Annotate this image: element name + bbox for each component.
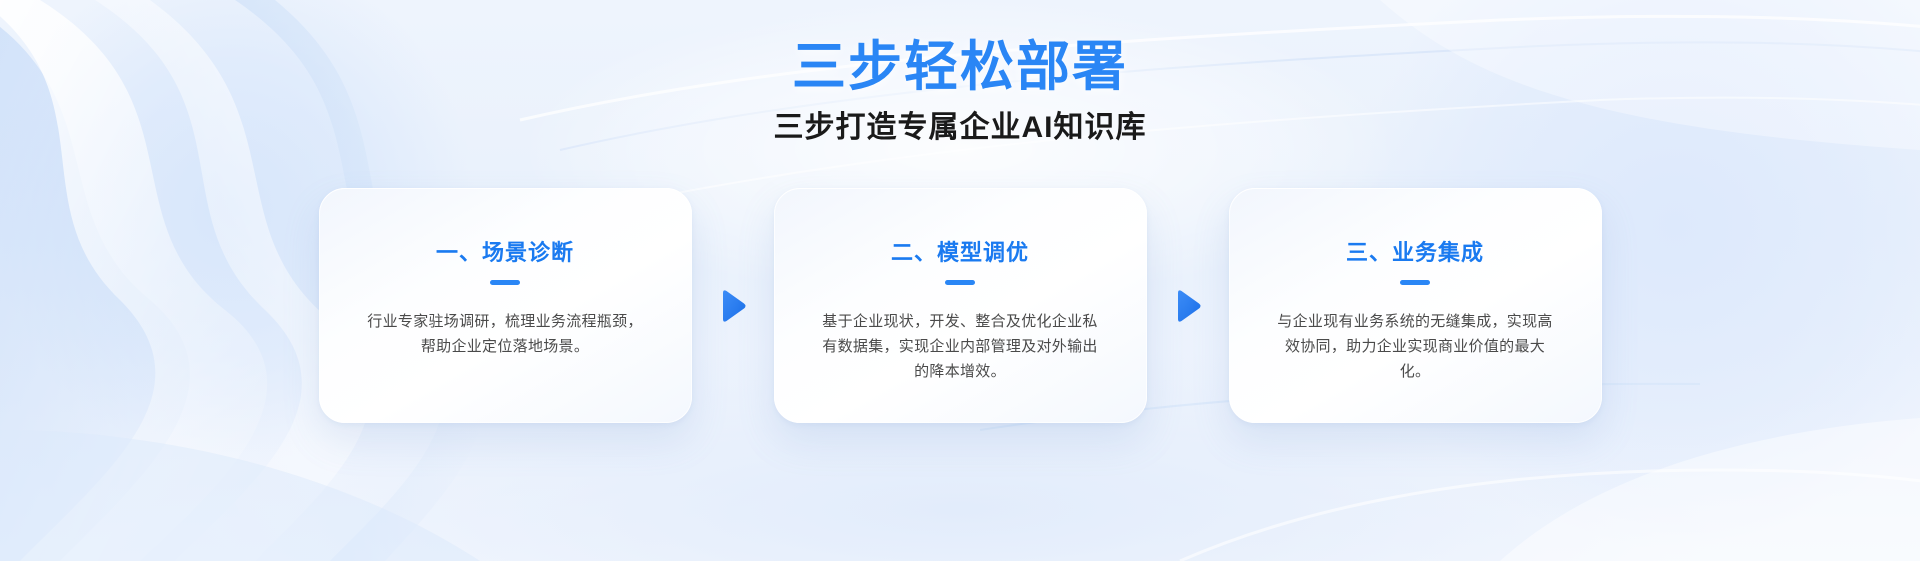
step-card-1-title: 一、场景诊断 bbox=[436, 240, 574, 266]
step-card-2-divider bbox=[945, 280, 975, 285]
step-card-2-title: 二、模型调优 bbox=[891, 240, 1029, 266]
step-card-3[interactable]: 三、业务集成 与企业现有业务系统的无缝集成，实现高效协同，助力企业实现商业价值的… bbox=[1229, 188, 1602, 423]
steps-row: 一、场景诊断 行业专家驻场调研，梳理业务流程瓶颈，帮助企业定位落地场景。 二、模… bbox=[0, 188, 1920, 423]
page-title: 三步轻松部署 bbox=[0, 36, 1920, 100]
step-card-1-divider bbox=[490, 280, 520, 285]
step-card-3-description: 与企业现有业务系统的无缝集成，实现高效协同，助力企业实现商业价值的最大化。 bbox=[1275, 309, 1555, 384]
step-card-2-description: 基于企业现状，开发、整合及优化企业私有数据集，实现企业内部管理及对外输出的降本增… bbox=[820, 309, 1100, 384]
step-card-2[interactable]: 二、模型调优 基于企业现状，开发、整合及优化企业私有数据集，实现企业内部管理及对… bbox=[774, 188, 1147, 423]
banner-header: 三步轻松部署 三步打造专属企业AI知识库 bbox=[0, 36, 1920, 147]
arrow-step-2-to-3 bbox=[1147, 289, 1229, 323]
arrow-step-1-to-2 bbox=[692, 289, 774, 323]
step-card-1-description: 行业专家驻场调研，梳理业务流程瓶颈，帮助企业定位落地场景。 bbox=[365, 309, 645, 359]
step-card-3-title: 三、业务集成 bbox=[1346, 240, 1484, 266]
page-subtitle: 三步打造专属企业AI知识库 bbox=[0, 108, 1920, 147]
step-card-3-divider bbox=[1400, 280, 1430, 285]
step-card-1[interactable]: 一、场景诊断 行业专家驻场调研，梳理业务流程瓶颈，帮助企业定位落地场景。 bbox=[319, 188, 692, 423]
